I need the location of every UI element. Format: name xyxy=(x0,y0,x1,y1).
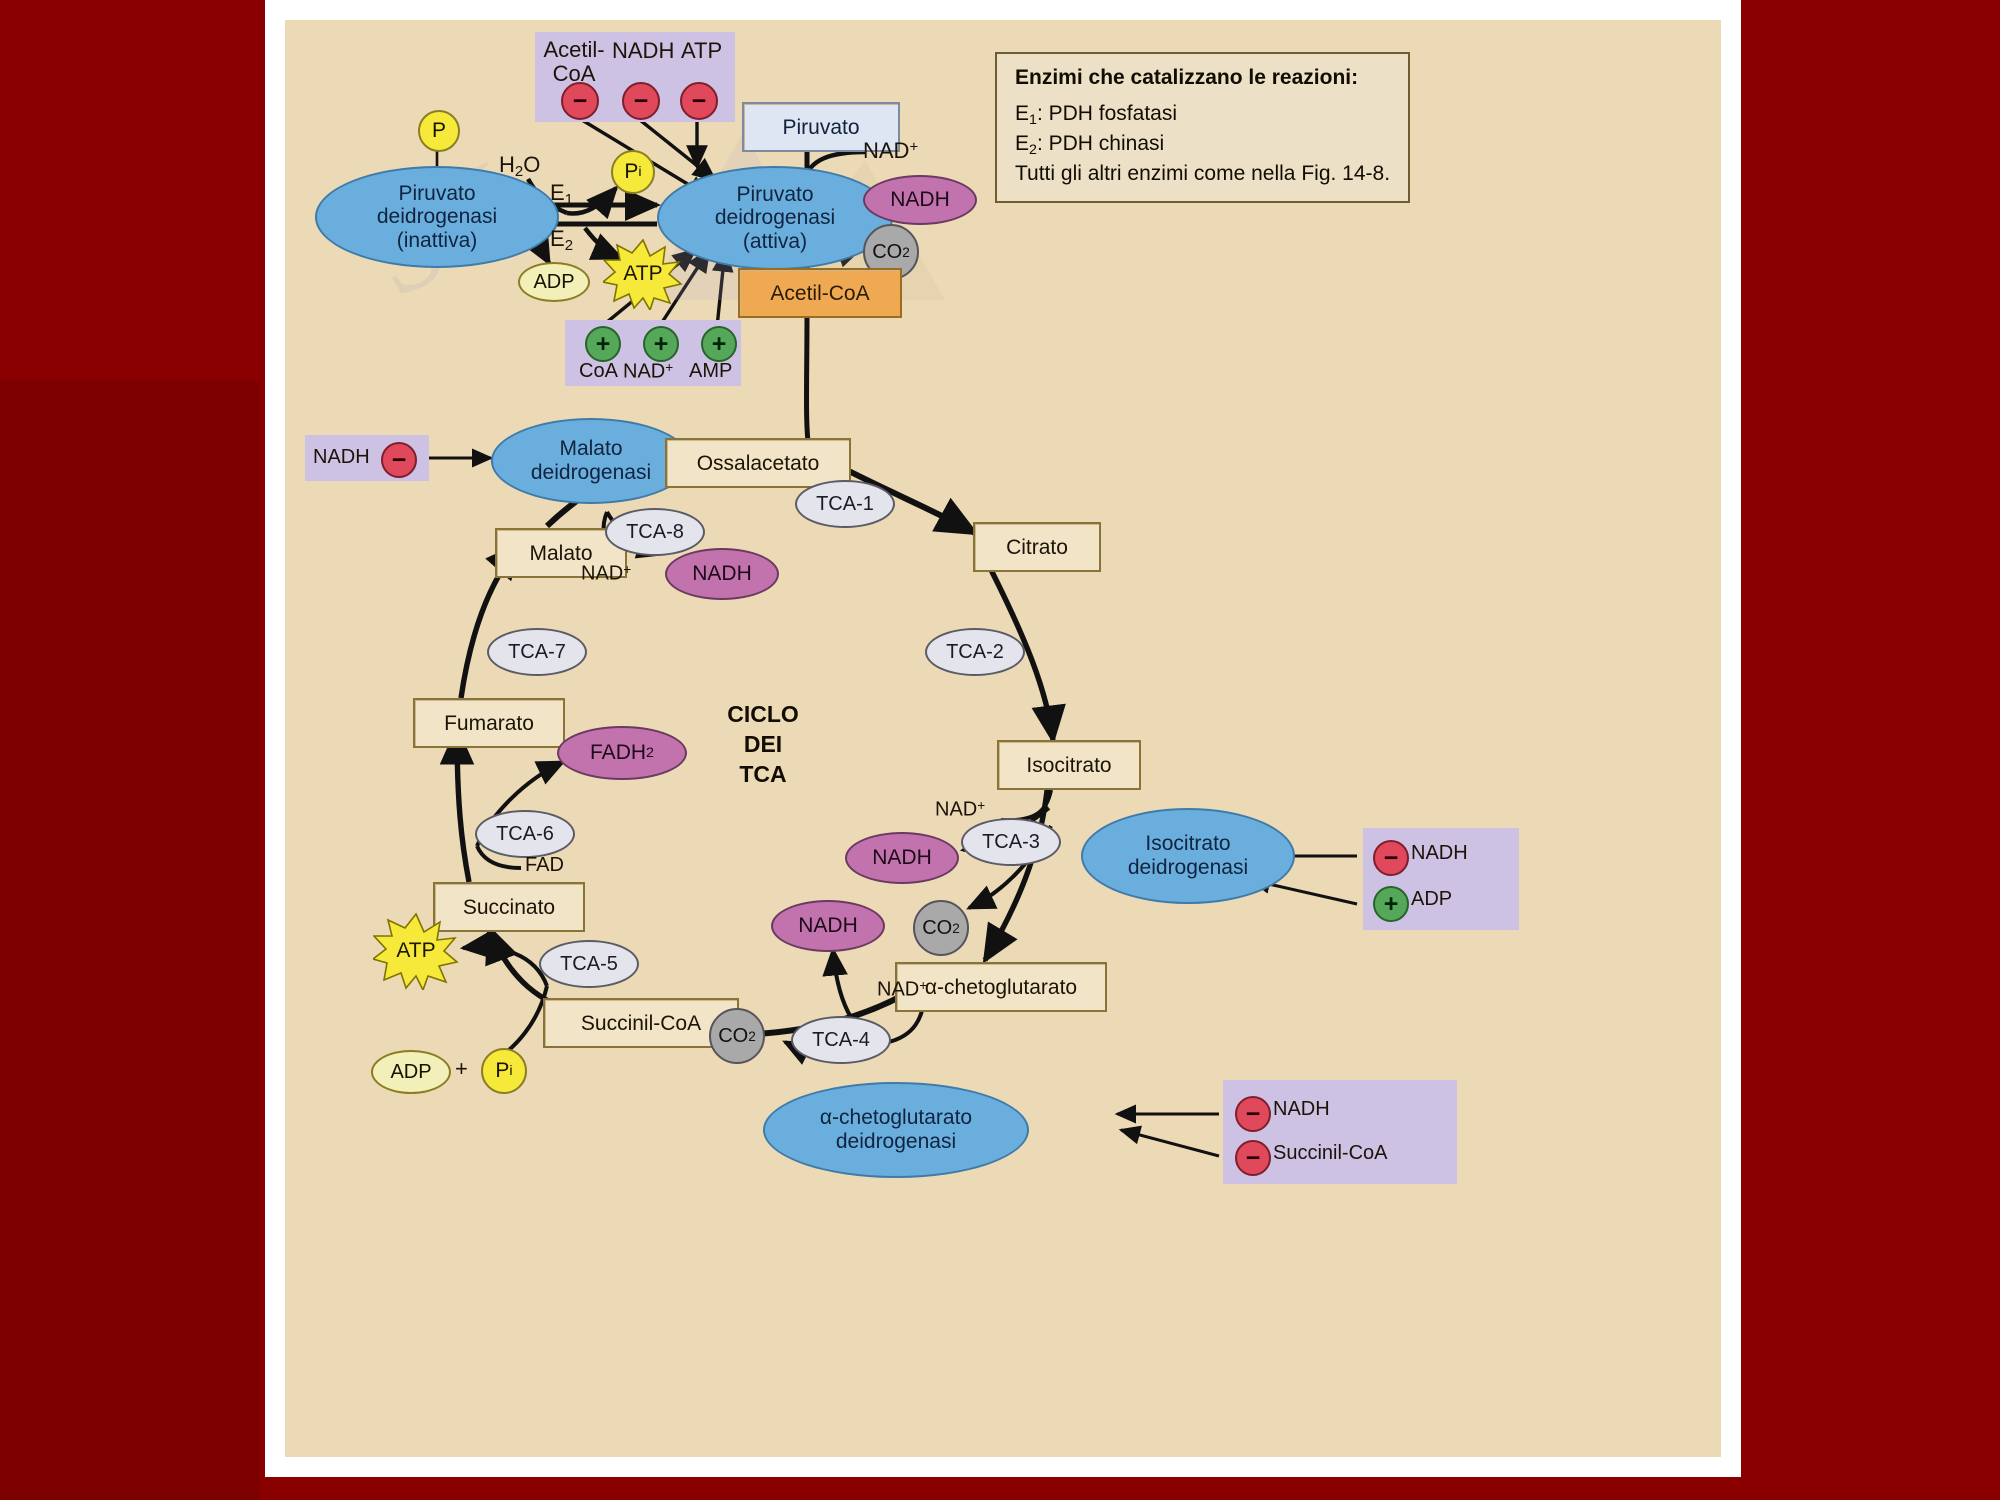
diagram-canvas: SK Enzimi che catalizzano le reazioni: E… xyxy=(285,20,1721,1457)
effector-label-nadh-akgdh: NADH xyxy=(1273,1098,1330,1121)
effector-sign-succinylcoa-akgdh: − xyxy=(1235,1140,1271,1176)
pdh-active-line1: Piruvato xyxy=(715,183,835,207)
inhibitor-sign-acetyl-coa: − xyxy=(561,82,599,120)
label-adp-pdh: ADP xyxy=(518,262,590,302)
inhibitor-sign-atp: − xyxy=(680,82,718,120)
effector-label-nadh-malatedh: NADH xyxy=(313,446,370,469)
pdh-inactive-line1: Piruvato xyxy=(377,182,497,206)
activator-sign-nad: + xyxy=(643,326,679,362)
legend-e2-text: : PDH chinasi xyxy=(1037,132,1164,155)
metabolite-acetil-coa: Acetil-CoA xyxy=(738,268,902,318)
step-tca-6: TCA-6 xyxy=(475,810,575,858)
cofactor-fad: FAD xyxy=(525,854,564,877)
product-nadh-tca3: NADH xyxy=(845,832,959,884)
malato-dh-line2: deidrogenasi xyxy=(531,461,651,485)
metabolite-citrato: Citrato xyxy=(973,522,1101,572)
legend-e1-text: : PDH fosfatasi xyxy=(1037,102,1177,125)
cofactor-nad-tca8: NAD+ xyxy=(581,562,631,586)
product-nadh-pdh: NADH xyxy=(863,175,977,225)
legend-row-e1: E1: PDH fosfatasi xyxy=(1015,100,1390,130)
cofactor-nad-tca4: NAD+ xyxy=(877,978,927,1002)
label-e1: E1 xyxy=(550,180,573,208)
inhibitor-sign-nadh: − xyxy=(622,82,660,120)
activator-label-nad: NAD+ xyxy=(623,360,673,384)
product-fadh2: FADH2 xyxy=(557,726,687,780)
cycle-title-line1: CICLO xyxy=(703,700,823,730)
cycle-title-line3: TCA xyxy=(703,760,823,790)
phosphate-tag: P xyxy=(418,110,460,152)
product-nadh-tca8: NADH xyxy=(665,548,779,600)
step-tca-7: TCA-7 xyxy=(487,628,587,676)
label-plus-sign-tca5: + xyxy=(455,1056,468,1082)
cycle-title: CICLO DEI TCA xyxy=(703,700,823,790)
akg-dh-line1: α-chetoglutarato xyxy=(820,1106,972,1130)
label-phosphate-pi: Pi xyxy=(611,150,655,194)
akg-dh-line2: deidrogenasi xyxy=(820,1130,972,1154)
product-nadh-tca4: NADH xyxy=(771,900,885,952)
effector-label-adp-isocitratedh: ADP xyxy=(1411,888,1452,911)
effector-sign-nadh-akgdh: − xyxy=(1235,1096,1271,1132)
enzyme-pdh-inactive: Piruvato deidrogenasi (inattiva) xyxy=(315,166,559,268)
atp-star-tca5-label: ATP xyxy=(396,939,435,963)
step-tca-4: TCA-4 xyxy=(791,1016,891,1064)
inhibitor-label-acetyl-coa: Acetil-CoA xyxy=(543,38,605,86)
activator-sign-coa: + xyxy=(585,326,621,362)
isocitrato-dh-line1: Isocitrato xyxy=(1128,832,1248,856)
legend-row-e2: E2: PDH chinasi xyxy=(1015,130,1390,160)
product-co2-tca4: CO2 xyxy=(709,1008,765,1064)
enzyme-isocitrato-deidrogenasi: Isocitrato deidrogenasi xyxy=(1081,808,1295,904)
activator-label-amp: AMP xyxy=(689,360,732,383)
enzyme-malato-deidrogenasi: Malato deidrogenasi xyxy=(491,418,691,504)
inhibitor-label-atp: ATP xyxy=(681,38,722,64)
cycle-title-line2: DEI xyxy=(703,730,823,760)
enzyme-achetoglutarato-deidrogenasi: α-chetoglutarato deidrogenasi xyxy=(763,1082,1029,1178)
legend-title: Enzimi che catalizzano le reazioni: xyxy=(1015,66,1390,90)
pdh-active-line3: (attiva) xyxy=(715,230,835,254)
inhibitor-label-nadh: NADH xyxy=(612,38,674,64)
metabolite-isocitrato: Isocitrato xyxy=(997,740,1141,790)
cofactor-nad-tca3: NAD+ xyxy=(935,798,985,822)
screenshot-root: SK Enzimi che catalizzano le reazioni: E… xyxy=(0,0,2000,1500)
step-tca-1: TCA-1 xyxy=(795,480,895,528)
label-adp-tca5: ADP xyxy=(371,1050,451,1094)
metabolite-fumarato: Fumarato xyxy=(413,698,565,748)
activator-sign-amp: + xyxy=(701,326,737,362)
pdh-inactive-line2: deidrogenasi xyxy=(377,205,497,229)
pdh-active-line2: deidrogenasi xyxy=(715,206,835,230)
label-nad-plus-pdh: NAD+ xyxy=(863,138,918,164)
effector-label-nadh-isocitratedh: NADH xyxy=(1411,842,1468,865)
label-water: H2O xyxy=(499,152,540,180)
product-co2-tca3: CO2 xyxy=(913,900,969,956)
effector-sign-nadh-malatedh: − xyxy=(381,442,417,478)
effector-sign-adp-isocitratedh: + xyxy=(1373,886,1409,922)
legend-box: Enzimi che catalizzano le reazioni: E1: … xyxy=(995,52,1410,203)
atp-star-pdh: ATP xyxy=(603,238,683,310)
label-pi-tca5: Pi xyxy=(481,1048,527,1094)
isocitrato-dh-line2: deidrogenasi xyxy=(1128,856,1248,880)
pdh-inactive-line3: (inattiva) xyxy=(377,229,497,253)
label-e2: E2 xyxy=(550,226,573,254)
step-tca-8: TCA-8 xyxy=(605,508,705,556)
malato-dh-line1: Malato xyxy=(531,437,651,461)
step-tca-3: TCA-3 xyxy=(961,818,1061,866)
metabolite-ossalacetato: Ossalacetato xyxy=(665,438,851,488)
atp-star-pdh-label: ATP xyxy=(623,262,662,286)
enzyme-pdh-active: Piruvato deidrogenasi (attiva) xyxy=(657,166,893,270)
step-tca-2: TCA-2 xyxy=(925,628,1025,676)
background-panel-dark xyxy=(0,380,260,1500)
legend-footer: Tutti gli altri enzimi come nella Fig. 1… xyxy=(1015,160,1390,188)
activator-label-coa: CoA xyxy=(579,360,618,383)
step-tca-5: TCA-5 xyxy=(539,940,639,988)
slide-frame: SK Enzimi che catalizzano le reazioni: E… xyxy=(265,0,1741,1477)
effector-sign-nadh-isocitratedh: − xyxy=(1373,840,1409,876)
atp-star-tca5: ATP xyxy=(373,912,459,990)
effector-label-succinylcoa-akgdh: Succinil-CoA xyxy=(1273,1142,1387,1165)
